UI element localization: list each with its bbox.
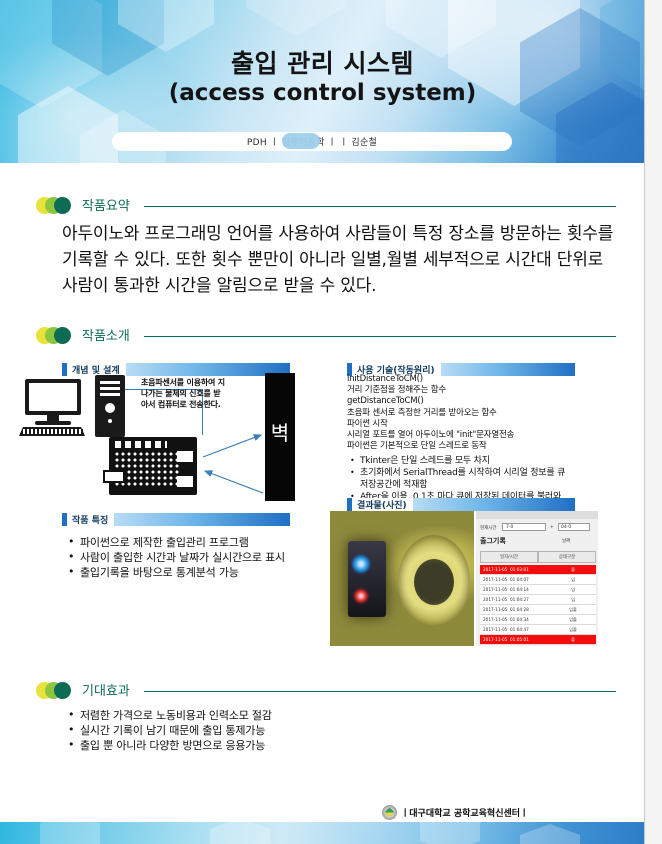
feature-list-item: 파이썬으로 제작한 출입관리 프로그램 [66, 535, 306, 550]
gui-cell-time: 01:05:01 [510, 637, 542, 642]
tri-circle-bullet-icon [36, 682, 78, 699]
gui-cell-date: 2017-11-05 [480, 617, 510, 622]
tech-line: 파이썬은 기본적으로 단일 스레드로 동작 [347, 441, 575, 452]
concept-diagram: 초음파센서를 이용하여 지나가는 물체의 신호를 받아서 컴퓨터로 전송한다. [25, 375, 315, 505]
gui-cell-date: 2017-11-05 [480, 627, 510, 632]
bar-gradient [114, 513, 290, 526]
tech-line: getDistanceToCM() [347, 396, 575, 407]
content-area: 작품요약 아두이노와 프로그래밍 언어를 사용하여 사람들이 특정 장소를 방문… [0, 163, 645, 782]
gui-cell-status: 입출 [558, 627, 588, 633]
gui-cell-status: 입 [558, 577, 588, 583]
gui-field-label-2: 날짜 [562, 538, 570, 544]
section-heading-summary: 작품요약 [36, 195, 616, 217]
gui-panel-title: 출그기록 [480, 536, 506, 546]
gui-cell-status: 출 [558, 637, 588, 643]
tech-line: 거리 기준점을 정해주는 함수 [347, 385, 575, 396]
gui-cell-date: 2017-11-05 [480, 577, 510, 582]
gui-cell-time: 01:04:47 [510, 627, 542, 632]
tech-line: initDistanceToCM() [347, 374, 575, 385]
banner-title-group: 출입 관리 시스템 (access control system) PDH ㅣ … [0, 0, 645, 163]
gui-field-value-2: 04-0 [561, 525, 571, 530]
subheader-results-label: 결과물(사진) [352, 498, 413, 511]
gui-cell-status: 입출 [558, 607, 588, 613]
section-title-intro: 작품소개 [82, 325, 130, 344]
diagram-note: 초음파센서를 이용하여 지나가는 물체의 신호를 받아서 컴퓨터로 전송한다. [141, 377, 227, 410]
feature-list-item: 사람이 출입한 시간과 날짜가 실시간으로 표시 [66, 550, 306, 565]
tech-line: 시리얼 포트를 열어 아두이노에 "init"문자열전송 [347, 430, 575, 441]
red-led-icon [354, 589, 368, 603]
gui-table-row[interactable]: 2017-11-0501:04:34입출 [480, 615, 596, 625]
footer-text: ㅣ대구대학교 공학교육혁신센터ㅣ [401, 806, 528, 819]
gui-cell-date: 2017-11-05 [480, 607, 510, 612]
page-gutter [646, 0, 662, 844]
arduino-board-icon [109, 437, 197, 495]
tri-circle-bullet-icon [36, 327, 78, 344]
gui-field-value-1: 7-0 [506, 525, 513, 530]
header-banner: 출입 관리 시스템 (access control system) PDH ㅣ … [0, 0, 645, 163]
subheader-features: 작품 특징 [62, 513, 290, 526]
tech-list-item: 초기화에서 SerialThread를 시작하여 시리얼 정보를 큐 저장공간에… [349, 467, 575, 491]
gui-cell-date: 2017-11-05 [480, 567, 510, 572]
gui-program-screenshot: 현재시간 7-0 + 04-0 출그기록 날짜 일자/시간 상태구분 2017-… [474, 511, 598, 646]
feature-list-item: 출입기록을 바탕으로 통계분석 가능 [66, 565, 306, 580]
section-rule [144, 206, 616, 207]
gui-cell-time: 01:04:07 [510, 577, 542, 582]
wall-label: 벽 [265, 417, 295, 446]
gui-separator: + [550, 525, 554, 530]
gui-cell-time: 01:04:27 [510, 597, 542, 602]
arduino-sensor-photo [330, 511, 474, 646]
tech-line: 초음파 센서로 측정한 거리를 받아오는 함수 [347, 408, 575, 419]
gui-table-row[interactable]: 2017-11-0501:05:01출 [480, 635, 596, 645]
section-heading-effect: 기대효과 [36, 680, 616, 702]
gui-cell-status: 입 [558, 587, 588, 593]
page-title-english: (access control system) [0, 80, 645, 106]
gui-cell-status: 입 [558, 597, 588, 603]
bar-gradient [413, 498, 575, 511]
feature-bullet-list: 파이썬으로 제작한 출입관리 프로그램사람이 출입한 시간과 날짜가 실시간으로… [66, 535, 306, 580]
tech-list-item: Tkinter은 단일 스레드를 모두 차지 [349, 455, 575, 467]
pc-tower-icon [95, 375, 125, 437]
arduino-device [348, 541, 386, 617]
gui-table-row[interactable]: 2017-11-0501:03:01출 [480, 565, 596, 575]
gui-titlebar [476, 511, 598, 519]
page-title-korean: 출입 관리 시스템 [0, 44, 645, 80]
gui-cell-time: 01:04:34 [510, 617, 542, 622]
gui-table-header-0: 일자/시간 [480, 551, 538, 563]
tape-roll-hole [414, 559, 454, 605]
gui-cell-date: 2017-11-05 [480, 637, 510, 642]
gui-cell-time: 01:04:28 [510, 607, 542, 612]
footer-band [0, 822, 645, 844]
effect-list-item: 저렴한 가격으로 노동비용과 인력소모 절감 [66, 708, 486, 723]
blue-led-icon [352, 555, 370, 573]
gui-cell-time: 01:03:01 [510, 567, 542, 572]
result-photo: 현재시간 7-0 + 04-0 출그기록 날짜 일자/시간 상태구분 2017-… [330, 511, 598, 646]
wall-block: 벽 [265, 373, 295, 501]
subheader-features-label: 작품 특징 [67, 513, 114, 526]
gui-table-row[interactable]: 2017-11-0501:04:27입 [480, 595, 596, 605]
university-seal-icon [382, 805, 397, 820]
gui-table-row[interactable]: 2017-11-0501:04:07입 [480, 575, 596, 585]
gui-cell-time: 01:04:14 [510, 587, 542, 592]
signal-arrows-icon [201, 431, 271, 501]
redaction-highlight [282, 133, 320, 149]
gui-cell-date: 2017-11-05 [480, 597, 510, 602]
gui-table-row[interactable]: 2017-11-0501:04:28입출 [480, 605, 596, 615]
section-title-summary: 작품요약 [82, 195, 130, 214]
tech-line: 파이썬 시작 [347, 419, 575, 430]
gui-table-row[interactable]: 2017-11-0501:04:47입출 [480, 625, 596, 635]
effect-bullet-list: 저렴한 가격으로 노동비용과 인력소모 절감실시간 기록이 남기 때문에 출입 … [66, 708, 486, 753]
tri-circle-bullet-icon [36, 197, 78, 214]
effect-list-item: 출입 뿐 아니라 다양한 방면으로 응용가능 [66, 738, 486, 753]
subheader-results: 결과물(사진) [347, 498, 575, 511]
section-heading-intro: 작품소개 [36, 325, 616, 347]
section-rule [144, 336, 616, 337]
tech-description-lines: initDistanceToCM()거리 기준점을 정해주는 함수getDist… [347, 374, 575, 452]
footer-logo: ㅣ대구대학교 공학교육혁신센터ㅣ [382, 805, 528, 820]
poster-page: 출입 관리 시스템 (access control system) PDH ㅣ … [0, 0, 645, 844]
section-rule [144, 691, 616, 692]
gui-cell-date: 2017-11-05 [480, 587, 510, 592]
effect-list-item: 실시간 기록이 남기 때문에 출입 통제가능 [66, 723, 486, 738]
gui-cell-status: 출 [558, 567, 588, 573]
gui-field-label-1: 현재시간 [480, 525, 497, 531]
gui-table-row[interactable]: 2017-11-0501:04:14입 [480, 585, 596, 595]
section-title-effect: 기대효과 [82, 680, 130, 699]
gui-cell-status: 입출 [558, 617, 588, 623]
summary-paragraph: 아두이노와 프로그래밍 언어를 사용하여 사람들이 특정 장소를 방문하는 횟수… [62, 221, 622, 299]
gui-table-header-1: 상태구분 [538, 551, 596, 563]
